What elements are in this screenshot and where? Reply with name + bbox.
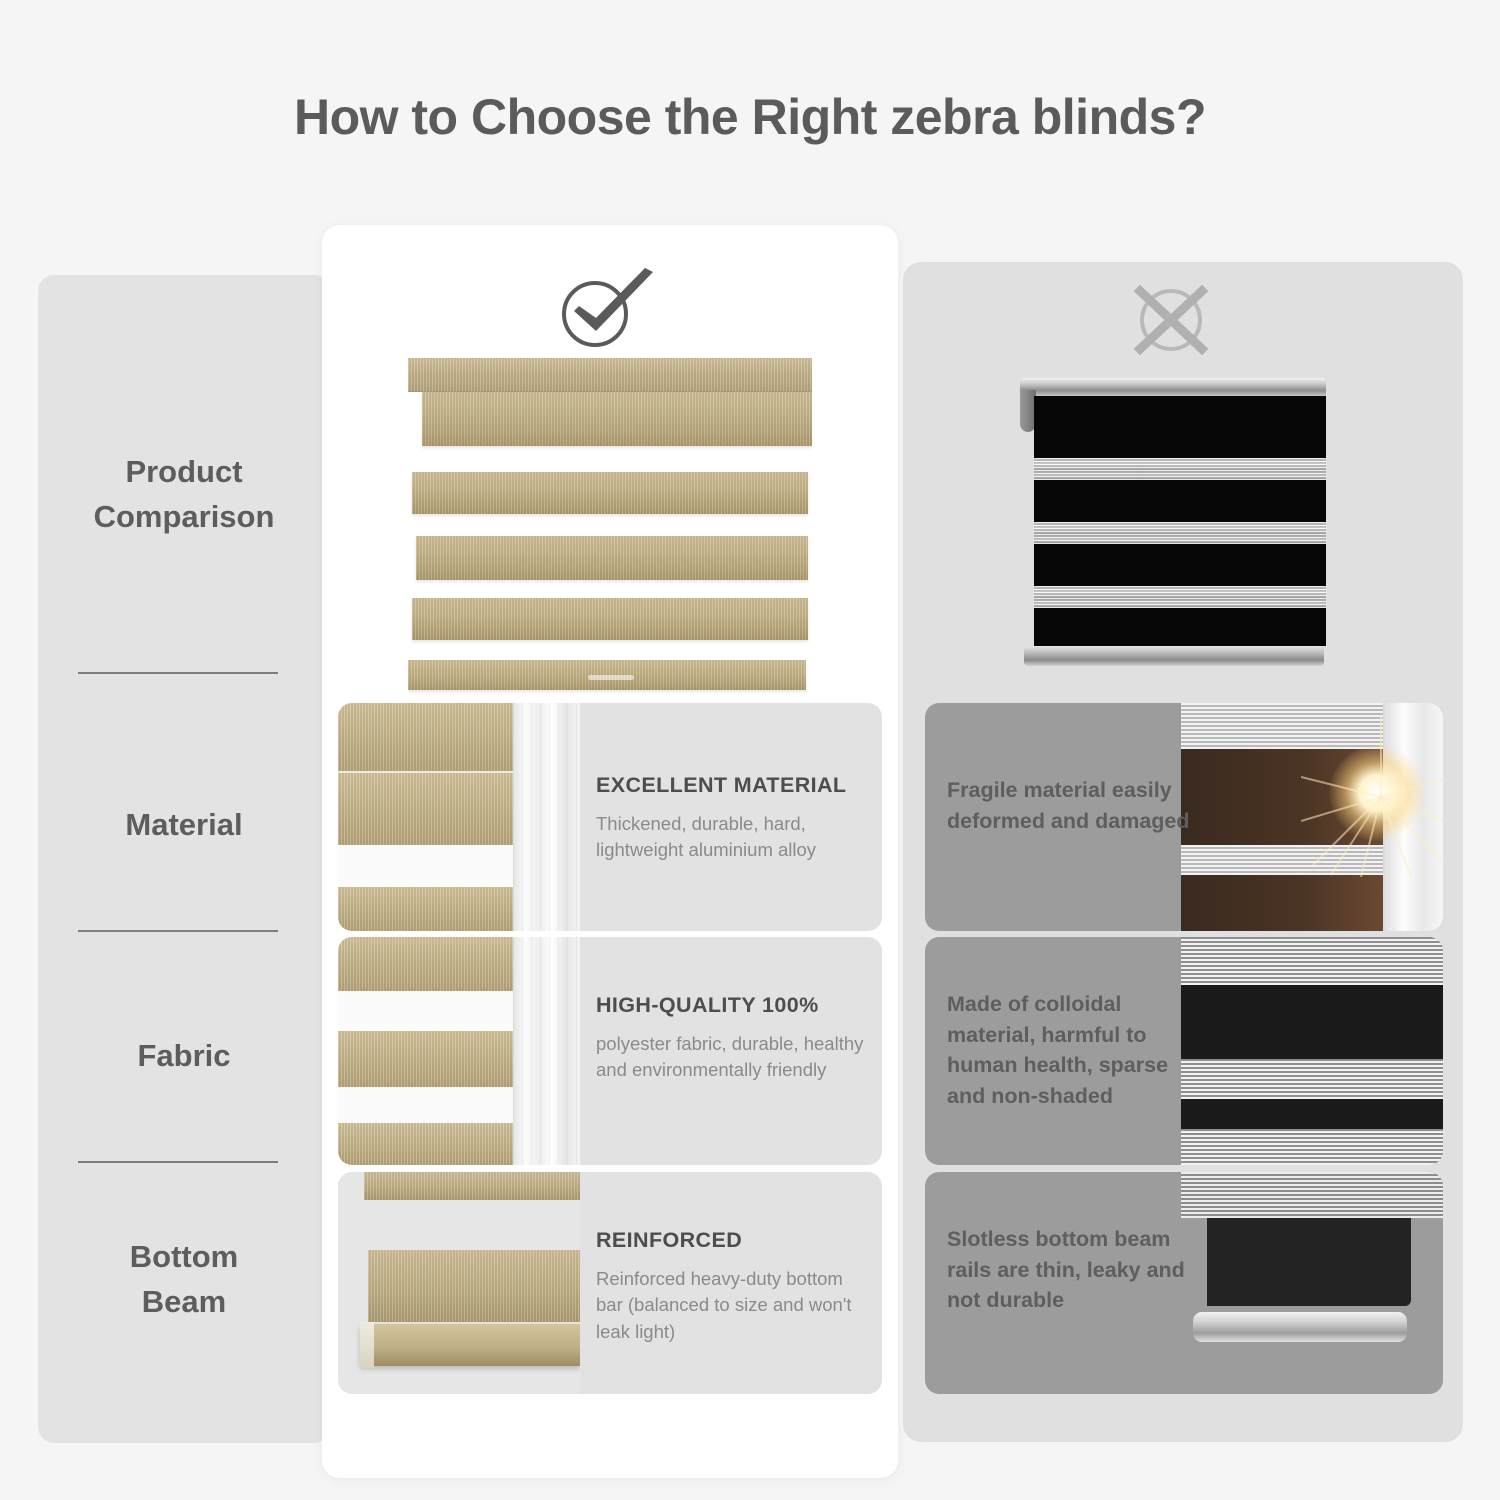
pull-handle: [588, 675, 634, 680]
sheer-stripe: [1034, 522, 1326, 544]
row-label-panel: Product Comparison Material Fabric Botto…: [38, 275, 330, 1443]
row-label-line1: Fabric: [38, 1034, 330, 1079]
good-feature-material: EXCELLENT MATERIAL Thickened, durable, h…: [338, 703, 882, 931]
check-circle-icon: [552, 266, 662, 352]
blind-slat: [416, 536, 808, 580]
good-bottom-beam-photo: [338, 1172, 580, 1394]
page-title: How to Choose the Right zebra blinds?: [0, 88, 1500, 146]
infographic-root: How to Choose the Right zebra blinds? Pr…: [0, 0, 1500, 1500]
bad-feature-material: Fragile material easily deformed and dam…: [925, 703, 1443, 931]
good-fabric-photo: [338, 937, 580, 1165]
bad-material-text: Fragile material easily deformed and dam…: [947, 775, 1197, 836]
blind-fabric-body: [1034, 396, 1326, 646]
row-label-material: Material: [38, 803, 330, 848]
label-divider-2: [78, 930, 278, 932]
bad-material-photo: [1181, 703, 1443, 931]
sheer-stripe: [1034, 458, 1326, 480]
feature-heading: REINFORCED: [596, 1228, 864, 1253]
bad-fabric-photo: [1181, 937, 1443, 1165]
row-label-line1: Product: [38, 450, 330, 495]
blind-slat: [422, 392, 812, 446]
label-divider-3: [78, 1161, 278, 1163]
good-material-text: EXCELLENT MATERIAL Thickened, durable, h…: [596, 773, 864, 864]
good-hero-product-image: [408, 358, 812, 696]
good-bottom-beam-text: REINFORCED Reinforced heavy-duty bottom …: [596, 1228, 864, 1345]
sheer-stripe: [1034, 586, 1326, 608]
label-divider-1: [78, 672, 278, 674]
bad-bottom-beam-text: Slotless bottom beam rails are thin, lea…: [947, 1224, 1197, 1316]
blind-slat: [412, 472, 808, 514]
row-label-bottom-beam: Bottom Beam: [38, 1235, 330, 1325]
row-label-fabric: Fabric: [38, 1034, 330, 1079]
row-label-line2: Beam: [38, 1280, 330, 1325]
good-feature-fabric: HIGH-QUALITY 100% polyester fabric, dura…: [338, 937, 882, 1165]
headrail: [408, 358, 812, 392]
feature-body: Thickened, durable, hard, lightweight al…: [596, 811, 864, 864]
feature-heading: HIGH-QUALITY 100%: [596, 993, 864, 1018]
feature-heading: EXCELLENT MATERIAL: [596, 773, 864, 798]
good-fabric-text: HIGH-QUALITY 100% polyester fabric, dura…: [596, 993, 864, 1084]
feature-body: Reinforced heavy-duty bottom bar (balanc…: [596, 1266, 864, 1345]
row-label-line1: Bottom: [38, 1235, 330, 1280]
metal-headrail: [1020, 378, 1326, 398]
bad-hero-product-image: [1016, 378, 1326, 668]
good-material-photo: [338, 703, 580, 931]
feature-body: polyester fabric, durable, healthy and e…: [596, 1031, 864, 1084]
bad-bottom-beam-photo: [1181, 1172, 1443, 1394]
blind-slat: [412, 598, 808, 640]
bad-feature-fabric: Made of colloidal material, harmful to h…: [925, 937, 1443, 1165]
bad-fabric-text: Made of colloidal material, harmful to h…: [947, 989, 1197, 1111]
cross-circle-icon: [1128, 285, 1214, 355]
row-label-line1: Material: [38, 803, 330, 848]
row-label-product-comparison: Product Comparison: [38, 450, 330, 540]
metal-bottom-rail: [1024, 646, 1324, 666]
row-label-line2: Comparison: [38, 495, 330, 540]
bad-feature-bottom-beam: Slotless bottom beam rails are thin, lea…: [925, 1172, 1443, 1394]
good-feature-bottom-beam: REINFORCED Reinforced heavy-duty bottom …: [338, 1172, 882, 1394]
